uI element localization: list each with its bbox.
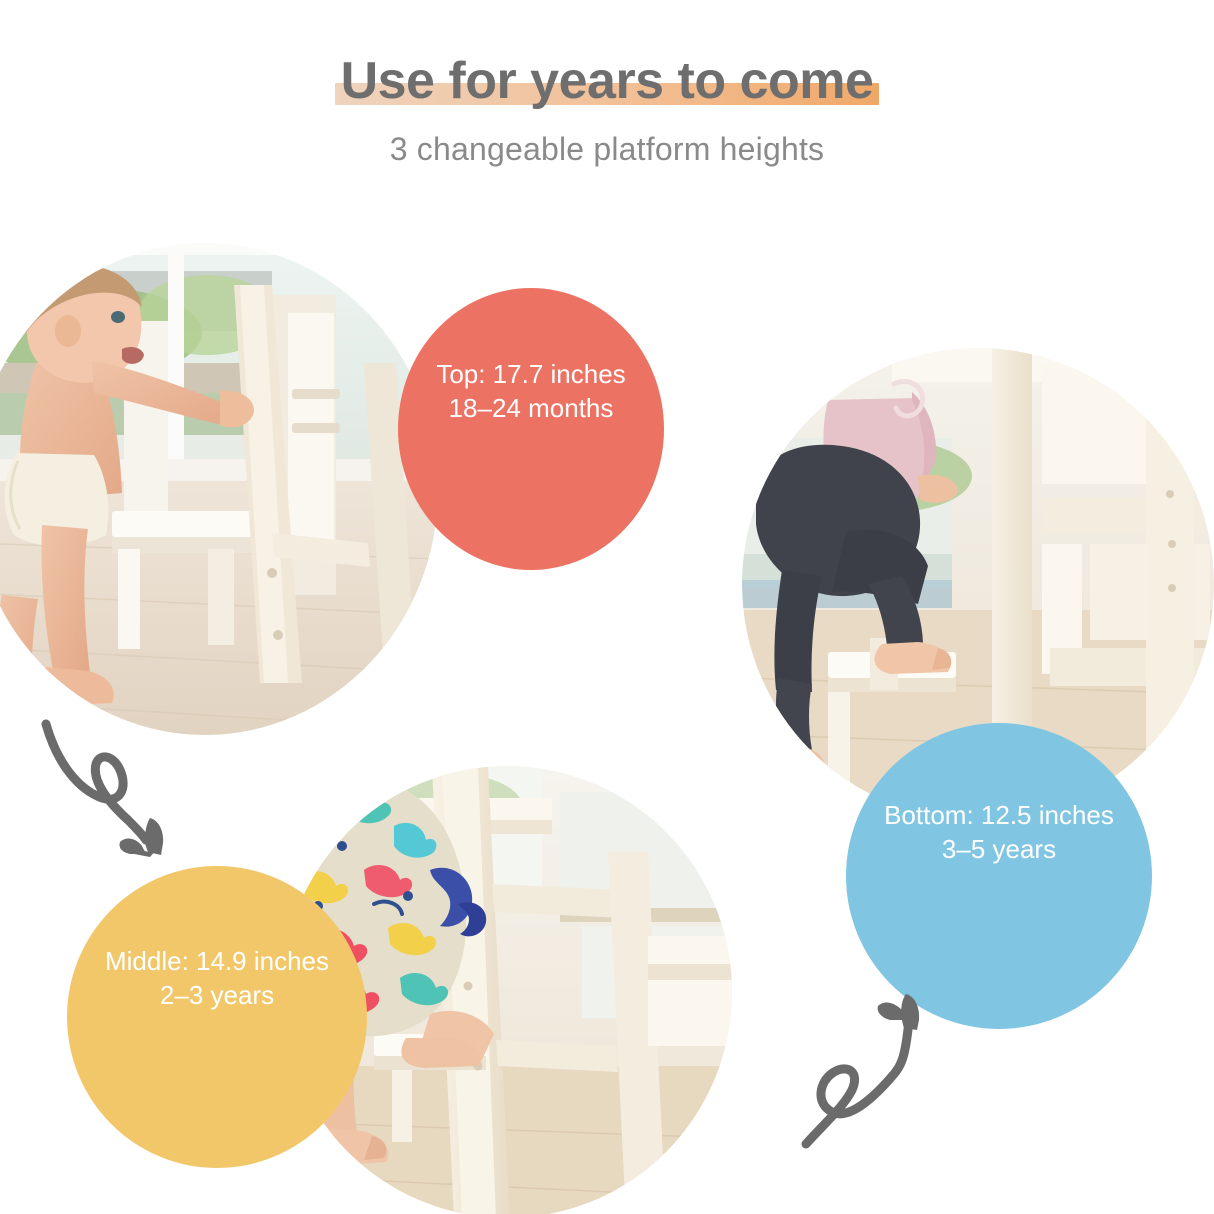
infographic-canvas: Use for years to come 3 changeable platf… [0, 0, 1214, 1214]
callout-middle-text: Middle: 14.9 inches 2–3 years [93, 945, 341, 1089]
photo-toddler-standing [0, 243, 438, 735]
photo-toddler-standing-art [0, 243, 438, 735]
header: Use for years to come 3 changeable platf… [0, 54, 1214, 168]
arrow-up-right-icon [782, 972, 962, 1152]
callout-middle-height: Middle: 14.9 inches 2–3 years [67, 866, 367, 1168]
arrow-down-right-icon-art [24, 702, 204, 882]
arrow-down-right-icon [24, 702, 204, 882]
callout-bottom-line2: 3–5 years [884, 833, 1114, 867]
callout-middle-line2: 2–3 years [105, 979, 329, 1013]
page-title: Use for years to come [327, 54, 888, 109]
callout-middle-line1: Middle: 14.9 inches [105, 945, 329, 979]
callout-top-line1: Top: 17.7 inches [436, 358, 625, 392]
page-subtitle: 3 changeable platform heights [0, 131, 1214, 168]
arrow-up-right-icon-art [782, 972, 962, 1152]
callout-top-text: Top: 17.7 inches 18–24 months [424, 358, 637, 500]
page-title-text: Use for years to come [341, 54, 874, 109]
callout-bottom-line1: Bottom: 12.5 inches [884, 799, 1114, 833]
callout-top-height: Top: 17.7 inches 18–24 months [398, 288, 664, 570]
callout-top-line2: 18–24 months [436, 392, 625, 426]
callout-bottom-text: Bottom: 12.5 inches 3–5 years [872, 799, 1126, 953]
